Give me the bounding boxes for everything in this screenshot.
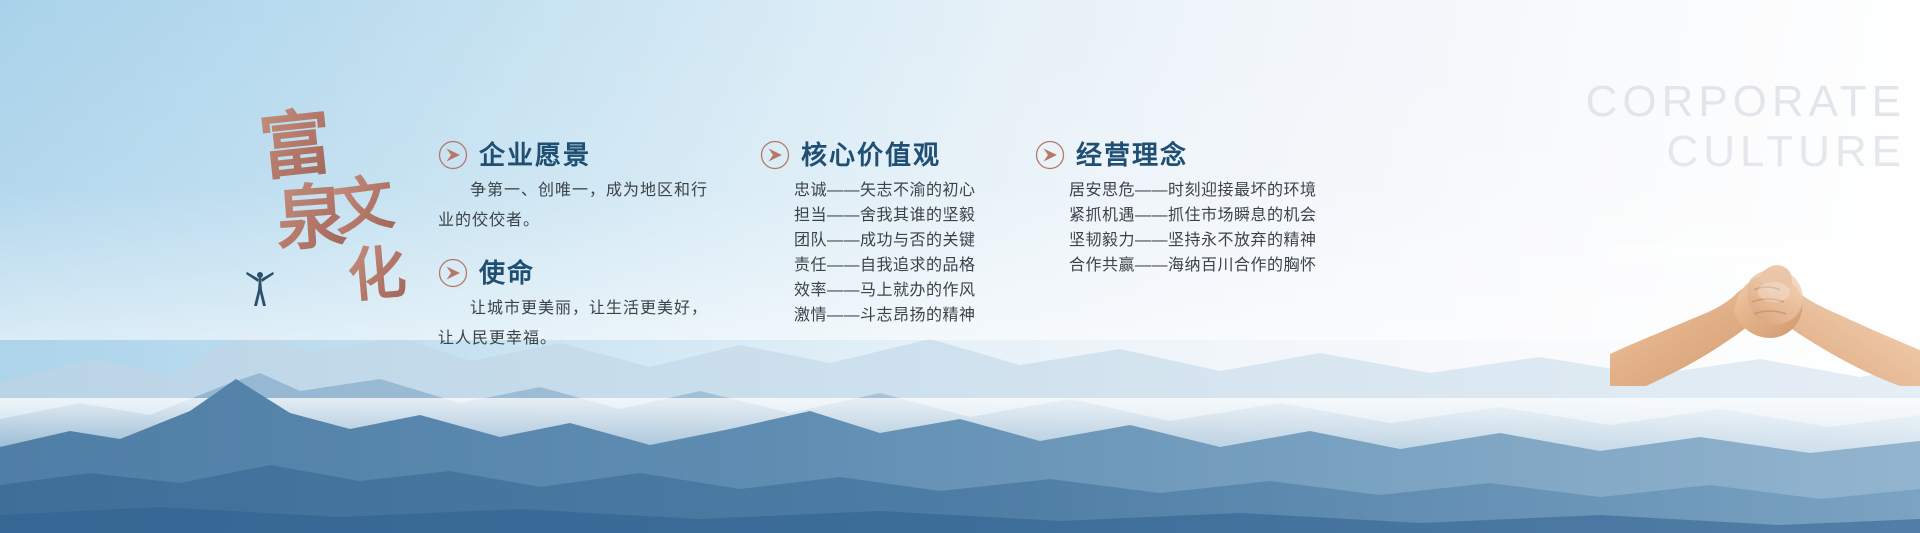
list-item: 团队——成功与否的关键 xyxy=(760,228,1020,253)
watermark-corporate-culture: CORPORATE CULTURE xyxy=(1586,80,1906,174)
watermark-line-1: CORPORATE xyxy=(1586,80,1906,124)
arrow-right-circle-icon xyxy=(760,140,790,170)
arrow-right-circle-icon xyxy=(1035,140,1065,170)
column-business-philosophy: 经营理念 居安思危——时刻迎接最坏的环境 紧抓机遇——抓住市场瞬息的机会 坚韧毅… xyxy=(1035,140,1335,278)
heading-mission: 使命 xyxy=(438,258,738,288)
list-item: 效率——马上就办的作风 xyxy=(760,278,1020,303)
section-spacer xyxy=(438,236,738,258)
list-core-values: 忠诚——矢志不渝的初心 担当——舍我其谁的坚毅 团队——成功与否的关键 责任——… xyxy=(760,178,1020,328)
svg-text:富: 富 xyxy=(255,104,335,191)
heading-business-philosophy: 经营理念 xyxy=(1035,140,1335,170)
heading-core-values-label: 核心价值观 xyxy=(801,141,941,170)
heading-core-values: 核心价值观 xyxy=(760,140,1020,170)
corporate-culture-banner: CORPORATE CULTURE 富 泉 文 化 xyxy=(0,0,1920,533)
arrow-right-circle-icon xyxy=(438,258,468,288)
list-business-philosophy: 居安思危——时刻迎接最坏的环境 紧抓机遇——抓住市场瞬息的机会 坚韧毅力——坚持… xyxy=(1035,178,1335,278)
list-item: 激情——斗志昂扬的精神 xyxy=(760,303,1020,328)
heading-vision-label: 企业愿景 xyxy=(479,141,591,170)
heading-business-philosophy-label: 经营理念 xyxy=(1076,141,1188,170)
watermark-line-2: CULTURE xyxy=(1586,130,1906,174)
list-item: 坚韧毅力——坚持永不放弃的精神 xyxy=(1035,228,1335,253)
paragraph-mission: 让城市更美丽，让生活更美好，让人民更幸福。 xyxy=(438,294,710,354)
column-core-values: 核心价值观 忠诚——矢志不渝的初心 担当——舍我其谁的坚毅 团队——成功与否的关… xyxy=(760,140,1020,328)
list-item: 紧抓机遇——抓住市场瞬息的机会 xyxy=(1035,203,1335,228)
paragraph-vision: 争第一、创唯一，成为地区和行业的佼佼者。 xyxy=(438,176,710,236)
heading-mission-label: 使命 xyxy=(479,259,535,288)
arrow-right-circle-icon xyxy=(438,140,468,170)
list-item: 责任——自我追求的品格 xyxy=(760,253,1020,278)
list-item: 担当——舍我其谁的坚毅 xyxy=(760,203,1020,228)
list-item: 合作共赢——海纳百川合作的胸怀 xyxy=(1035,253,1335,278)
column-vision: 企业愿景 争第一、创唯一，成为地区和行业的佼佼者。 使命 让城市更美丽，让生活更… xyxy=(438,140,738,354)
list-item: 居安思危——时刻迎接最坏的环境 xyxy=(1035,178,1335,203)
list-item: 忠诚——矢志不渝的初心 xyxy=(760,178,1020,203)
heading-vision: 企业愿景 xyxy=(438,140,738,170)
